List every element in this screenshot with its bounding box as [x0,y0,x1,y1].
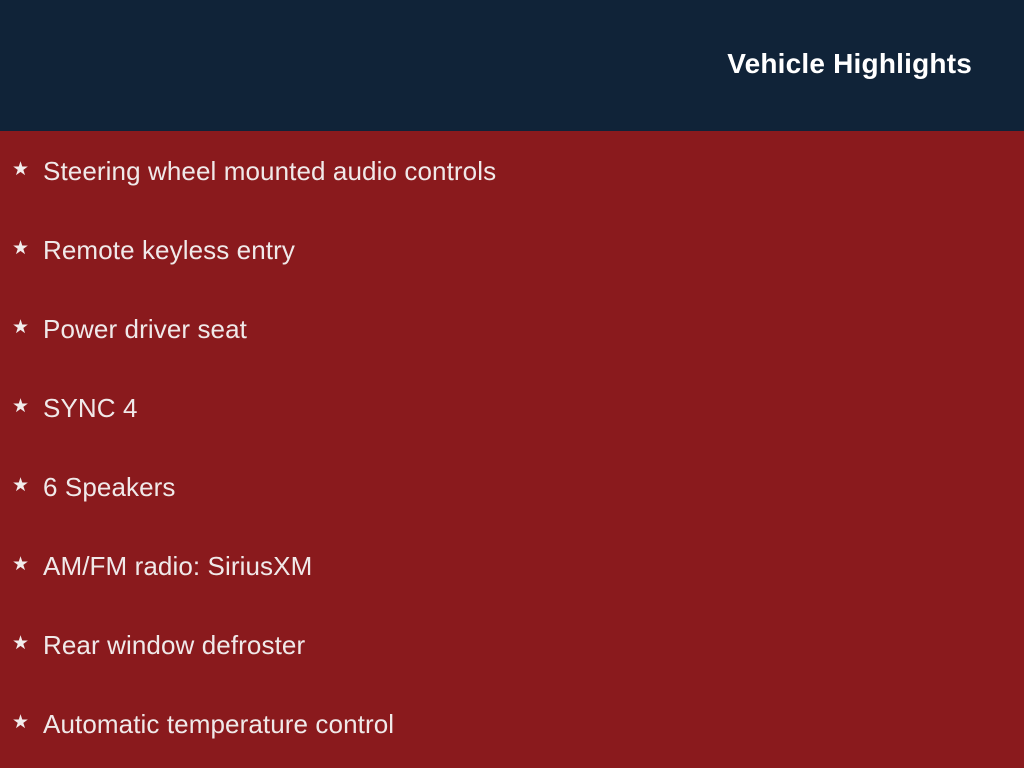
list-item: ★ Steering wheel mounted audio controls [0,131,1024,210]
star-icon: ★ [12,555,32,574]
vehicle-highlights-slide: Vehicle Highlights ★ Steering wheel moun… [0,0,1024,768]
list-item: ★ 6 Speakers [0,447,1024,526]
feature-label: SYNC 4 [43,393,138,423]
feature-list: ★ Steering wheel mounted audio controls … [0,131,1024,763]
header-band: Vehicle Highlights [0,0,1024,131]
highlights-body: ★ Steering wheel mounted audio controls … [0,131,1024,768]
feature-label: Steering wheel mounted audio controls [43,156,496,186]
star-icon: ★ [12,318,32,337]
feature-label: Remote keyless entry [43,235,295,265]
list-item: ★ AM/FM radio: SiriusXM [0,526,1024,605]
feature-label: Rear window defroster [43,630,305,660]
star-icon: ★ [12,239,32,258]
list-item: ★ Remote keyless entry [0,210,1024,289]
feature-label: Power driver seat [43,314,247,344]
list-item: ★ Automatic temperature control [0,684,1024,763]
star-icon: ★ [12,160,32,179]
list-item: ★ Power driver seat [0,289,1024,368]
feature-label: 6 Speakers [43,472,176,502]
star-icon: ★ [12,634,32,653]
feature-label: AM/FM radio: SiriusXM [43,551,312,581]
list-item: ★ Rear window defroster [0,605,1024,684]
page-title: Vehicle Highlights [727,47,972,81]
star-icon: ★ [12,476,32,495]
star-icon: ★ [12,713,32,732]
feature-label: Automatic temperature control [43,709,394,739]
list-item: ★ SYNC 4 [0,368,1024,447]
star-icon: ★ [12,397,32,416]
